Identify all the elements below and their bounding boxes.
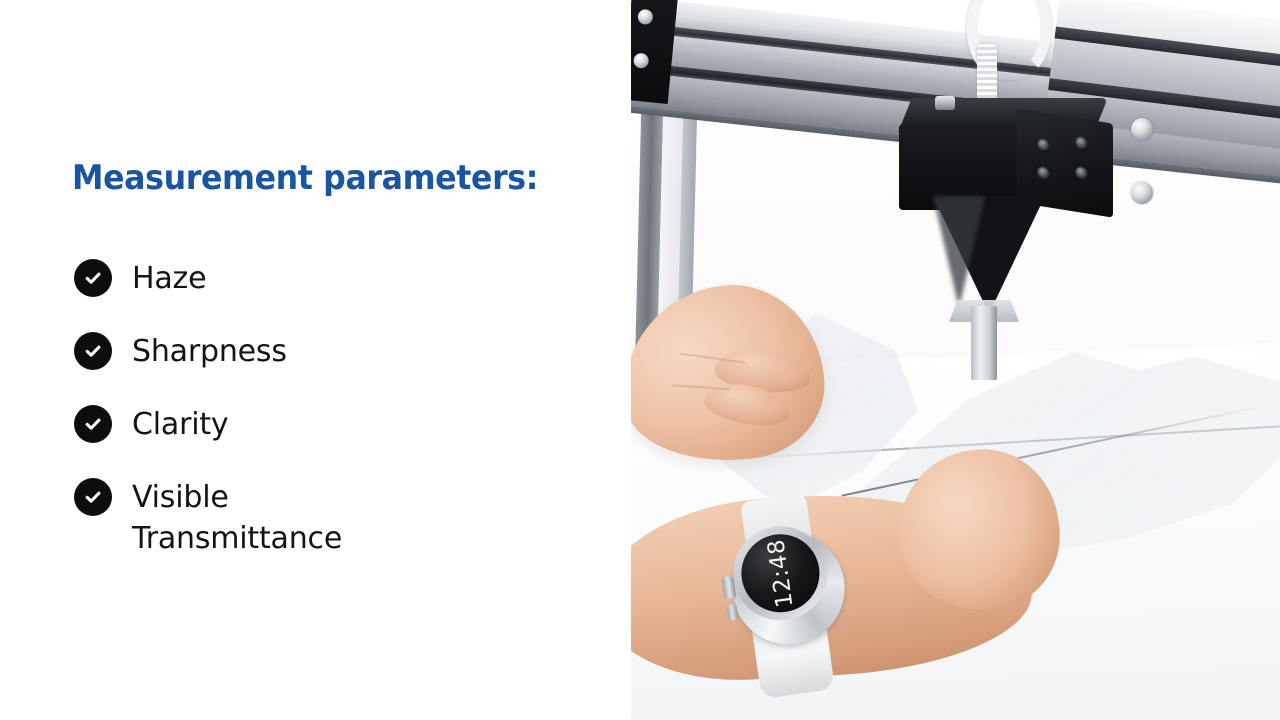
sensor-head [899,98,1111,210]
list-item: Haze [74,258,544,299]
page-title: Measurement parameters: [72,158,538,198]
parameter-label-haze: Haze [132,258,206,299]
probe-tip [971,306,997,380]
product-photo: 12:48 [631,0,1280,720]
hex-bolt-icon [1131,118,1153,140]
screw-icon [1037,166,1050,181]
hex-bolt-icon [633,53,649,69]
list-item: Visible Transmittance [74,477,544,559]
measurement-parameters-list: Haze Sharpness Clarity [74,258,544,559]
watch-time-text: 12:48 [763,537,798,609]
hex-bolt-icon [637,9,653,25]
sensor-cable [961,0,1039,100]
parameter-label-clarity: Clarity [132,404,228,445]
check-circle-icon [74,259,112,297]
screw-icon [1075,136,1088,151]
screw-icon [1037,138,1050,153]
cable-stem [977,44,997,100]
sensor-cable-gland [935,96,955,110]
cone-highlight [933,196,985,308]
hex-bolt-icon [1131,182,1153,204]
list-item: Sharpness [74,331,544,372]
check-circle-icon [74,478,112,516]
check-circle-icon [74,405,112,443]
slide-root: Measurement parameters: Haze Sharpness [0,0,1280,720]
smartwatch: 12:48 [717,508,865,674]
watch-button [726,604,738,621]
check-circle-icon [74,332,112,370]
parameter-label-sharpness: Sharpness [132,331,287,372]
parameter-label-visible-transmittance: Visible Transmittance [132,477,342,559]
text-panel: Measurement parameters: Haze Sharpness [0,0,631,720]
screw-icon [1075,166,1088,181]
list-item: Clarity [74,404,544,445]
